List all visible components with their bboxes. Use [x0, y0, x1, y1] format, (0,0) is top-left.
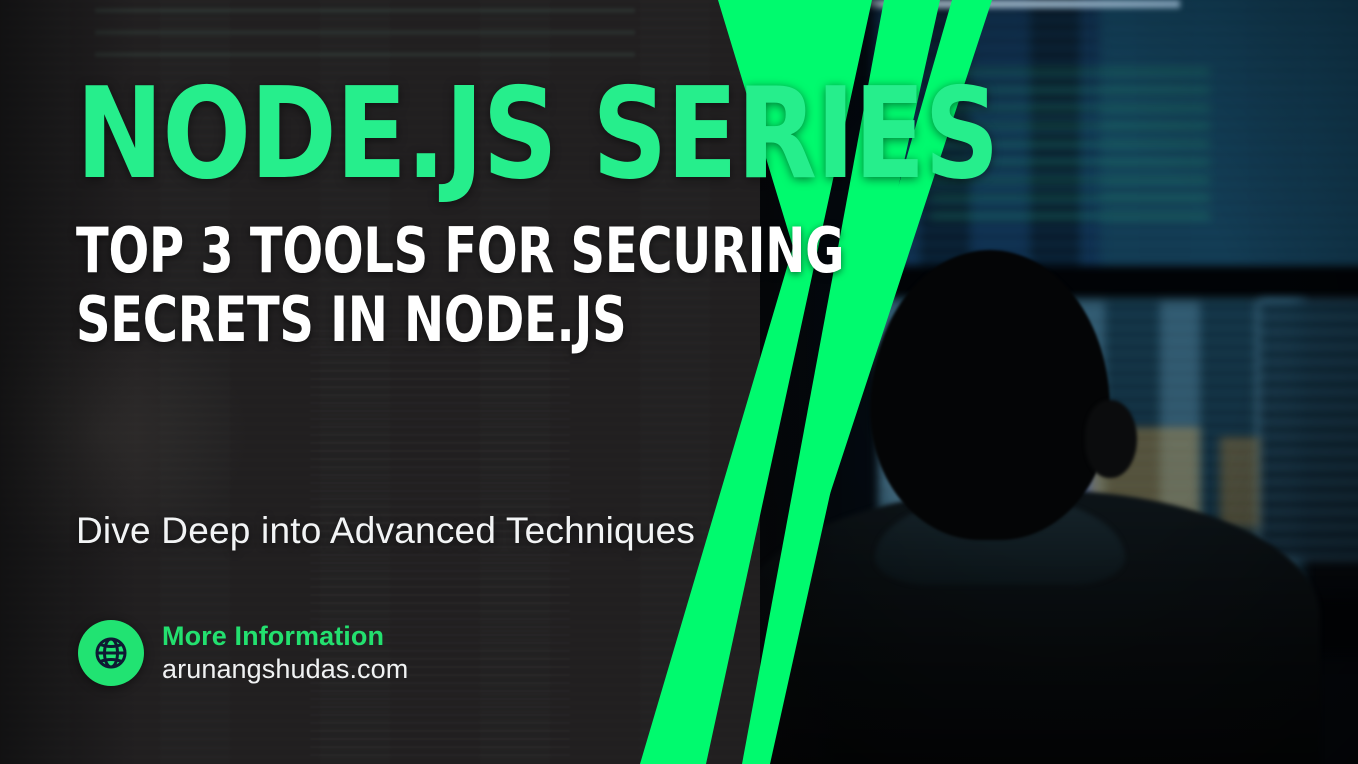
footer-more-information-label: More Information [162, 620, 408, 653]
footer-text: More Information arunangshudas.com [162, 620, 408, 686]
tagline: Dive Deep into Advanced Techniques [76, 510, 695, 552]
headline-line-1: TOP 3 TOOLS FOR SECURING [76, 216, 844, 285]
footer-link-block[interactable]: More Information arunangshudas.com [78, 620, 408, 686]
headline-line-2: SECRETS IN NODE.JS [76, 285, 844, 354]
series-title: NODE.JS SERIES [76, 76, 999, 192]
headline: TOP 3 TOOLS FOR SECURING SECRETS IN NODE… [76, 216, 844, 355]
globe-icon [78, 620, 144, 686]
footer-website-url[interactable]: arunangshudas.com [162, 653, 408, 686]
text-content: NODE.JS SERIES TOP 3 TOOLS FOR SECURING … [0, 0, 760, 764]
banner-canvas: NODE.JS SERIES TOP 3 TOOLS FOR SECURING … [0, 0, 1358, 764]
